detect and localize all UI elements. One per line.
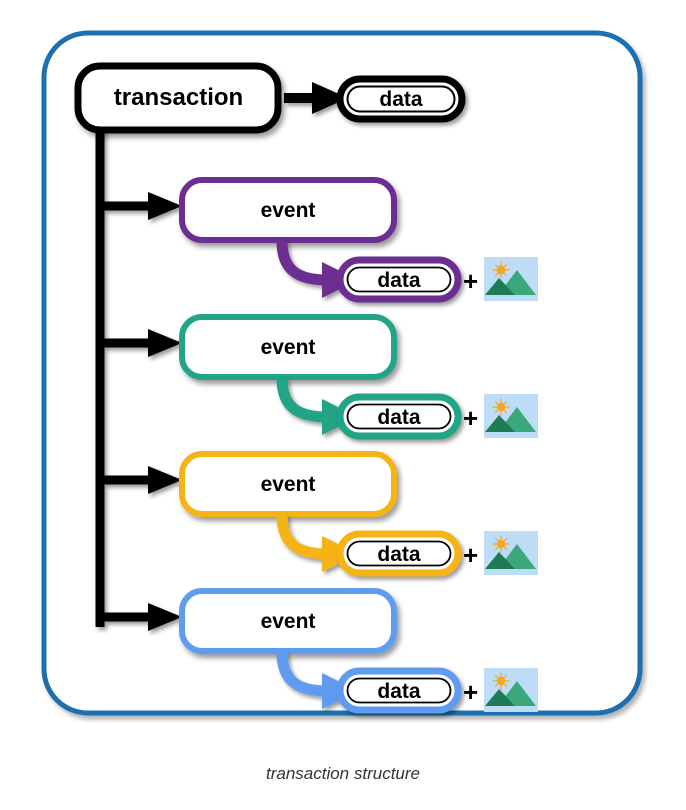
- image-icon: [484, 394, 538, 438]
- plus-sign-3: +: [463, 542, 478, 568]
- plus-sign-1: +: [463, 268, 478, 294]
- image-icon: [484, 257, 538, 301]
- diagram-canvas: transaction data event data + event data…: [0, 0, 686, 810]
- event-label-1: event: [182, 200, 394, 221]
- plus-sign-4: +: [463, 679, 478, 705]
- event-data-label-1: data: [340, 270, 458, 291]
- image-icon: [484, 668, 538, 712]
- plus-sign-2: +: [463, 405, 478, 431]
- event-data-label-4: data: [340, 681, 458, 702]
- transaction-data-label: data: [340, 89, 462, 110]
- event-label-3: event: [182, 474, 394, 495]
- event-data-label-2: data: [340, 407, 458, 428]
- event-label-2: event: [182, 337, 394, 358]
- event-data-label-3: data: [340, 544, 458, 565]
- event-label-4: event: [182, 611, 394, 632]
- image-icon: [484, 531, 538, 575]
- transaction-label: transaction: [96, 86, 261, 110]
- diagram-caption: transaction structure: [0, 764, 686, 784]
